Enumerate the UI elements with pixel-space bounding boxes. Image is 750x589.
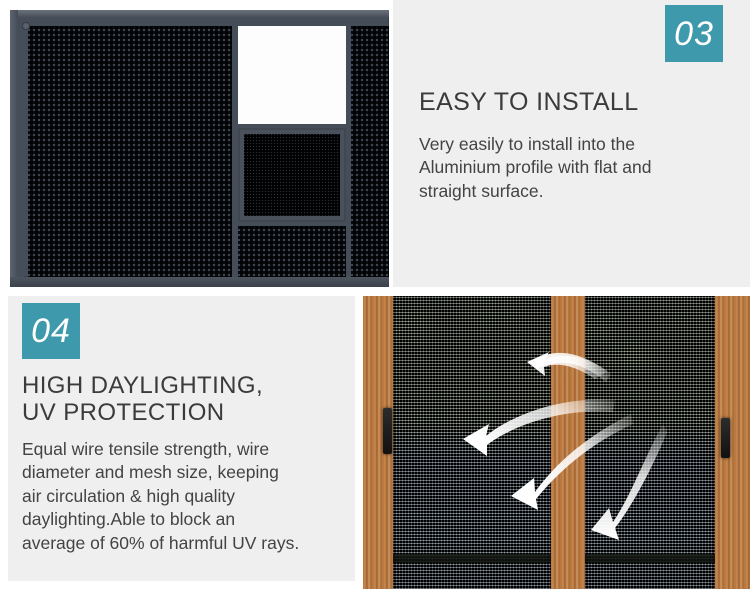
airflow-arrows <box>363 296 750 589</box>
top-column-separator <box>389 0 393 287</box>
feature-number-badge-03: 03 <box>665 5 723 62</box>
badge-number-text: 04 <box>31 314 71 348</box>
row-separator <box>0 287 750 296</box>
feature-04-heading: HIGH DAYLIGHTING, UV PROTECTION <box>22 373 352 427</box>
feature-03-body: Very easily to install into the Aluminiu… <box>419 133 729 203</box>
feature-04-body: Equal wire tensile strength, wire diamet… <box>22 438 358 555</box>
feature-04-panel: 04 HIGH DAYLIGHTING, UV PROTECTION Equal… <box>8 296 355 581</box>
mesh-weave-left <box>28 26 232 287</box>
screen-door-photo <box>363 296 750 589</box>
feature-03-heading: EASY TO INSTALL <box>419 88 729 116</box>
bottom-column-separator <box>355 296 363 589</box>
feature-03-panel: 03 EASY TO INSTALL Very easily to instal… <box>393 0 750 287</box>
airflow-arrow-2 <box>463 399 615 456</box>
feature-number-badge-04: 04 <box>22 303 80 359</box>
mesh-frame-top-rail <box>10 10 389 17</box>
mesh-screen-photo <box>0 0 389 287</box>
door-scene <box>363 296 750 589</box>
mesh-frame-left-stile <box>10 10 18 287</box>
badge-number-text: 03 <box>674 17 714 51</box>
feature-sheet: 03 EASY TO INSTALL Very easily to instal… <box>0 0 750 589</box>
mesh-frame-bottom-rail <box>10 277 389 287</box>
mesh-cutout-white <box>238 26 346 124</box>
airflow-arrow-3 <box>511 414 633 510</box>
mesh-sample-weave <box>244 134 340 216</box>
airflow-arrow-4 <box>591 424 667 540</box>
screw-top-left-icon <box>22 22 30 30</box>
mesh-panel-frame <box>10 10 389 287</box>
mesh-weave-right <box>351 26 389 287</box>
